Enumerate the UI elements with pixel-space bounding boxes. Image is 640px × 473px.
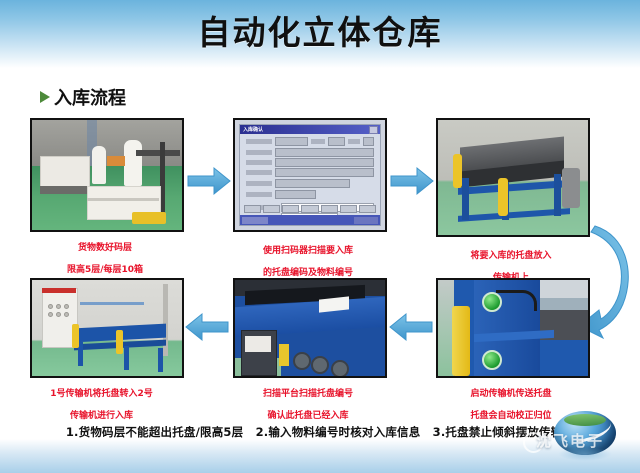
field-input[interactable] <box>275 168 374 177</box>
photo-cable <box>496 290 537 311</box>
dialog-field-row <box>246 138 374 145</box>
field-label <box>246 150 272 155</box>
photo-green-button <box>482 350 502 370</box>
flow-arrow-left-2 <box>184 312 230 342</box>
field-label <box>246 181 272 186</box>
field-input[interactable] <box>363 137 374 146</box>
photo-pallet-jack <box>132 212 166 224</box>
dialog-button[interactable] <box>340 205 357 213</box>
field-label <box>246 160 272 165</box>
dialog-field-row <box>246 159 374 166</box>
step-2-caption-line1: 使用扫码器扫描要入库 <box>223 246 393 257</box>
photo-drum <box>562 168 580 208</box>
photo-yellow-guard <box>453 154 462 188</box>
photo-cabinet-indicator <box>48 304 53 309</box>
wms-dialog-window: 入库确认 <box>239 124 381 226</box>
photo-roller <box>293 352 311 370</box>
step-1-caption-line2: 限高5层/每层10箱 <box>20 265 190 276</box>
field-input[interactable] <box>275 137 308 146</box>
step-4-caption-line1: 启动传输机传送托盘 <box>426 389 596 400</box>
photo-cabinet-indicator <box>64 304 69 309</box>
photo-box-line <box>87 198 159 201</box>
field-input[interactable] <box>275 179 350 188</box>
step-3-photo <box>436 118 590 237</box>
field-input[interactable] <box>328 137 345 146</box>
field-input[interactable] <box>275 158 374 167</box>
page-title: 自动化立体仓库 <box>0 6 640 54</box>
triangle-bullet-icon <box>40 91 50 103</box>
dialog-title-bar: 入库确认 <box>240 125 380 134</box>
field-input[interactable] <box>275 148 374 157</box>
photo-pallet-stack <box>40 156 90 188</box>
section-label: 入库流程 <box>54 84 126 110</box>
dialog-close-icon[interactable] <box>369 126 378 134</box>
section-heading: 入库流程 <box>40 84 126 110</box>
flow-arrow-right-2 <box>389 166 435 196</box>
field-label <box>311 139 325 144</box>
photo-cabinet-indicator <box>56 312 61 317</box>
step-5-caption-line1: 扫描平台扫描托盘编号 <box>223 389 393 400</box>
photo-yellow-guard <box>116 330 123 354</box>
watermark-text: 沈飞电子 <box>536 430 604 451</box>
step-1-caption-line1: 货物数好码层 <box>20 243 190 254</box>
step-5-photo <box>233 278 387 378</box>
photo-carton <box>107 156 125 166</box>
flow-arrow-left-1 <box>388 312 434 342</box>
taskbar-start-button[interactable] <box>242 217 268 224</box>
slide-root: 自动化立体仓库 入库流程 货物数好码层 限高5层/每层10箱 <box>0 0 640 473</box>
photo-worker <box>92 146 106 184</box>
dialog-button[interactable] <box>301 205 318 213</box>
photo-green-button <box>482 292 502 312</box>
dialog-button[interactable] <box>244 205 261 213</box>
photo-yellow-label <box>279 344 289 366</box>
photo-table <box>136 150 180 156</box>
field-label <box>246 139 272 144</box>
dialog-field-row <box>246 191 374 198</box>
field-label <box>246 192 272 197</box>
photo-frame-leg <box>462 178 469 220</box>
photo-yellow-guard <box>498 178 508 216</box>
dialog-button-bar <box>244 205 376 213</box>
dialog-title: 入库确认 <box>243 126 263 133</box>
photo-cabinet-indicator <box>64 312 69 317</box>
dialog-button[interactable] <box>282 205 299 213</box>
dialog-button[interactable] <box>263 205 280 213</box>
step-4-photo <box>436 278 590 378</box>
photo-yellow-post <box>452 306 470 376</box>
dialog-field-row <box>246 169 374 176</box>
photo-conveyor-leg <box>124 346 129 370</box>
step-1-photo <box>30 118 184 232</box>
taskbar-tray[interactable] <box>354 217 378 224</box>
flow-arrow-right-1 <box>186 166 232 196</box>
field-input[interactable] <box>275 190 316 199</box>
footer-note-2: 2.输入物料编号时核对入库信息 <box>256 425 421 439</box>
field-label <box>348 139 360 144</box>
photo-conveyor-leg <box>158 348 163 372</box>
dialog-button[interactable] <box>321 205 338 213</box>
photo-worker <box>124 140 142 186</box>
photo-pallet-base <box>40 186 88 194</box>
dialog-field-row <box>246 149 374 156</box>
photo-frame-leg <box>554 174 561 216</box>
step-6-photo <box>30 278 184 378</box>
photo-cabinet-indicator <box>56 304 61 309</box>
step-6-caption-line1: 1号传输机将托盘转入2号 <box>14 389 189 400</box>
photo-roller <box>311 356 329 374</box>
field-label <box>246 170 272 175</box>
dialog-button[interactable] <box>359 205 376 213</box>
step-3-caption-line1: 将要入库的托盘放入 <box>426 251 596 262</box>
photo-yellow-guard <box>72 324 79 348</box>
step-5-caption-line2: 确认此托盘已经入库 <box>223 411 393 422</box>
step-6-caption-line2: 传输机进行入库 <box>14 411 189 422</box>
slide-header: 自动化立体仓库 <box>0 0 640 68</box>
photo-cabinet-top-band <box>42 288 76 293</box>
step-2-photo: 入库确认 <box>233 118 387 232</box>
footer-note-1: 1.货物码层不能超出托盘/限高5层 <box>66 425 243 439</box>
photo-wall-stripe <box>80 302 144 305</box>
photo-scanner-label <box>245 336 271 352</box>
dialog-field-row <box>246 180 374 187</box>
photo-cabinet-indicator <box>48 312 53 317</box>
os-taskbar <box>240 215 380 225</box>
photo-roller <box>331 360 349 378</box>
